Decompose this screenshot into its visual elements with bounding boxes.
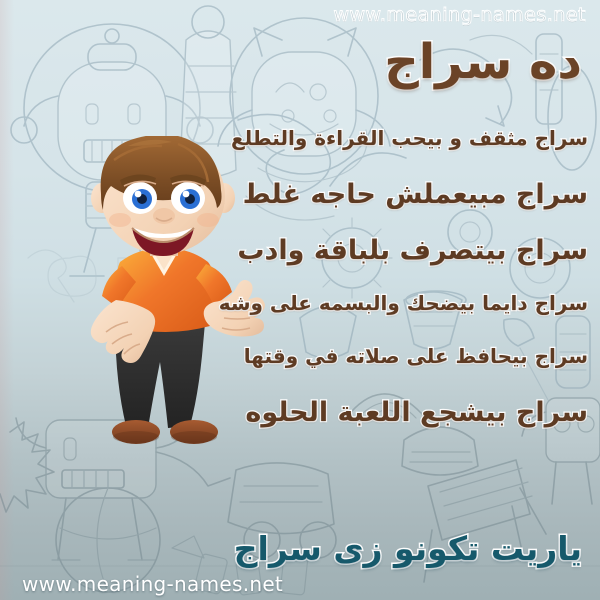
watermark-top: www.meaning-names.net xyxy=(333,4,586,26)
name-card-canvas: www.meaning-names.net ده سراج سراج مثقف … xyxy=(0,0,600,600)
closing-line: ياريت تكونو زى سراج xyxy=(234,529,582,568)
trait-list: سراج مثقف و بيحب القراءة والتطلع سراج مب… xyxy=(12,126,588,453)
trait-line: سراج مثقف و بيحب القراءة والتطلع xyxy=(12,126,588,150)
watermark-bottom: www.meaning-names.net xyxy=(22,572,283,596)
trait-line: سراج دايما بيضحك والبسمه على وشه xyxy=(12,291,588,315)
trait-line: سراج بيتصرف بلباقة وادب xyxy=(12,235,588,266)
trait-line: سراج بيحافظ على صلاته في وقتها xyxy=(12,344,588,368)
trait-line: سراج مبيعملش حاجه غلط xyxy=(12,179,588,210)
trait-line: سراج بيشجع اللعبة الحلوه xyxy=(12,397,588,428)
page-title: ده سراج xyxy=(384,38,582,86)
